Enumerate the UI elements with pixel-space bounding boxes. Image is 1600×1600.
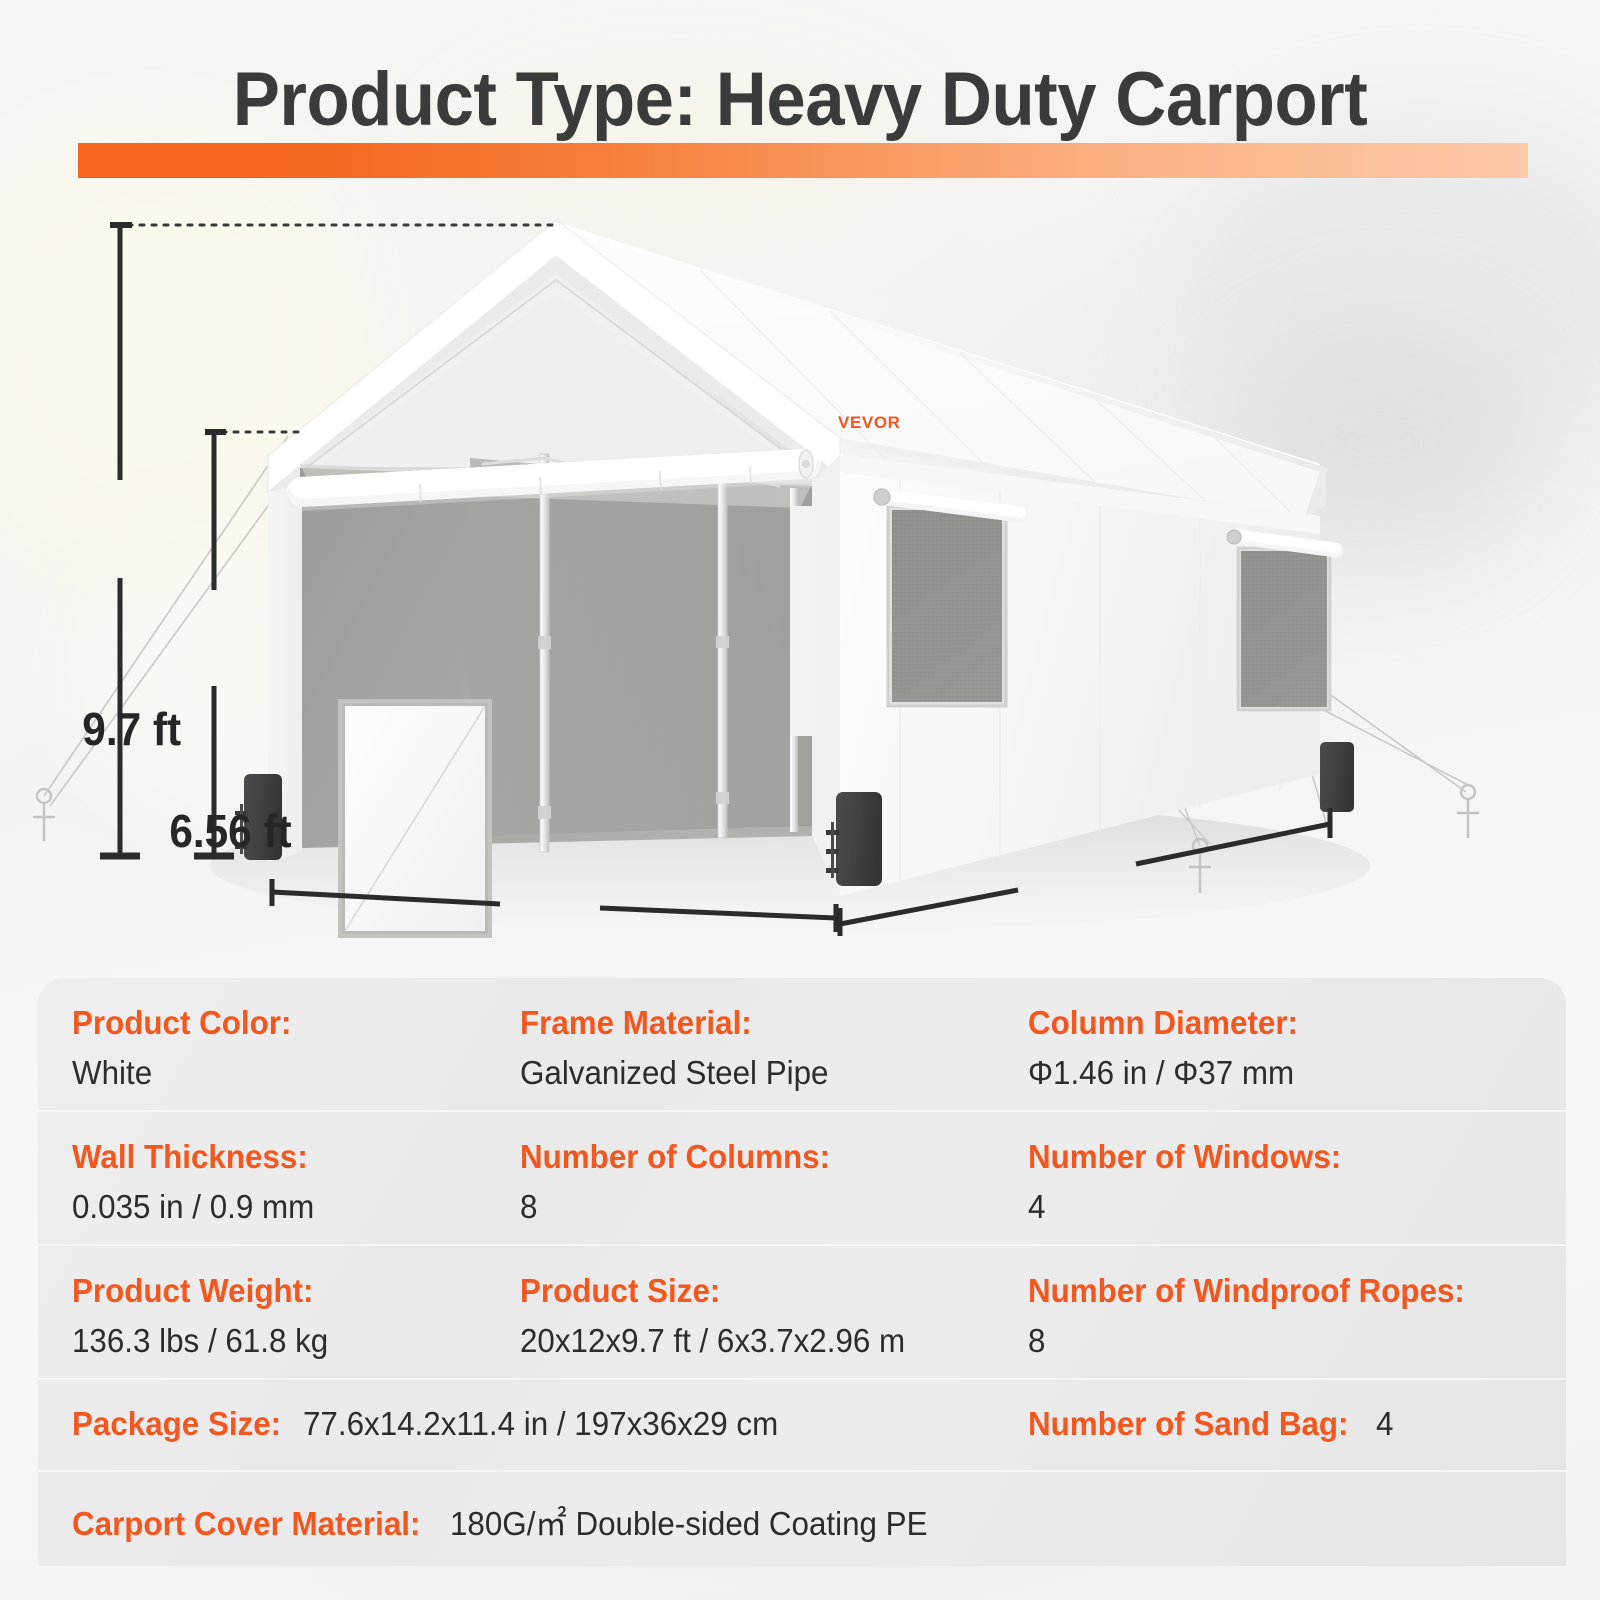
spec-value: Φ1.46 in / Φ37 mm bbox=[1028, 1054, 1294, 1092]
spec-value: White bbox=[72, 1054, 152, 1092]
page-title: Product Type: Heavy Duty Carport bbox=[56, 56, 1544, 143]
spec-value: 4 bbox=[1376, 1405, 1393, 1443]
spec-value: 0.035 in / 0.9 mm bbox=[72, 1188, 314, 1226]
spec-label: Column Diameter: bbox=[1028, 1004, 1298, 1042]
spec-value: 8 bbox=[520, 1188, 537, 1226]
dimension-label-total-height: 9.7 ft bbox=[82, 702, 181, 756]
spec-label: Number of Columns: bbox=[520, 1138, 830, 1176]
spec-value: 136.3 lbs / 61.8 kg bbox=[72, 1322, 328, 1360]
spec-row: Product Weight: 136.3 lbs / 61.8 kg Prod… bbox=[38, 1246, 1566, 1380]
spec-value: Galvanized Steel Pipe bbox=[520, 1054, 828, 1092]
spec-label: Number of Windows: bbox=[1028, 1138, 1341, 1176]
spec-label: Number of Windproof Ropes: bbox=[1028, 1272, 1465, 1310]
spec-label: Product Weight: bbox=[72, 1272, 313, 1310]
spec-label: Product Color: bbox=[72, 1004, 291, 1042]
side-window-2 bbox=[1238, 548, 1330, 710]
side-window-1 bbox=[888, 506, 1006, 706]
spec-value: 8 bbox=[1028, 1322, 1045, 1360]
spec-label: Package Size: bbox=[72, 1405, 281, 1443]
front-right-edge bbox=[812, 454, 840, 896]
spec-value: 77.6x14.2x11.4 in / 197x36x29 cm bbox=[303, 1405, 778, 1443]
product-illustration: VEVOR bbox=[0, 196, 1600, 978]
spec-label: Frame Material: bbox=[520, 1004, 752, 1042]
spec-value: 4 bbox=[1028, 1188, 1045, 1226]
dim-line-total-height bbox=[100, 225, 140, 856]
title-underline-bar bbox=[78, 143, 1528, 178]
dim-line-wall-height bbox=[194, 432, 234, 856]
spec-row: Package Size: 77.6x14.2x11.4 in / 197x36… bbox=[38, 1380, 1566, 1472]
spec-label: Product Size: bbox=[520, 1272, 720, 1310]
spec-label: Carport Cover Material: bbox=[72, 1505, 420, 1543]
spec-row: Wall Thickness: 0.035 in / 0.9 mm Number… bbox=[38, 1112, 1566, 1246]
spec-value: 180G/㎡ Double-sided Coating PE bbox=[450, 1497, 927, 1545]
far-end-panel bbox=[790, 506, 812, 736]
spec-value: 20x12x9.7 ft / 6x3.7x2.96 m bbox=[520, 1322, 905, 1360]
header-banner: Product Type: Heavy Duty Carport bbox=[0, 0, 1600, 200]
spec-row: Product Color: White Frame Material: Gal… bbox=[38, 978, 1566, 1112]
interior-back-wall bbox=[470, 458, 812, 836]
spec-label: Wall Thickness: bbox=[72, 1138, 308, 1176]
spec-row: Carport Cover Material: 180G/㎡ Double-si… bbox=[38, 1472, 1566, 1564]
dimension-label-wall-height: 6.56 ft bbox=[169, 804, 291, 858]
specification-table: Product Color: White Frame Material: Gal… bbox=[38, 978, 1566, 1566]
spec-label: Number of Sand Bag: bbox=[1028, 1405, 1348, 1443]
vevor-logo: VEVOR bbox=[838, 413, 901, 432]
sandbag-rear-right bbox=[1320, 742, 1354, 812]
product-infographic: Product Type: Heavy Duty Carport bbox=[0, 0, 1600, 1600]
